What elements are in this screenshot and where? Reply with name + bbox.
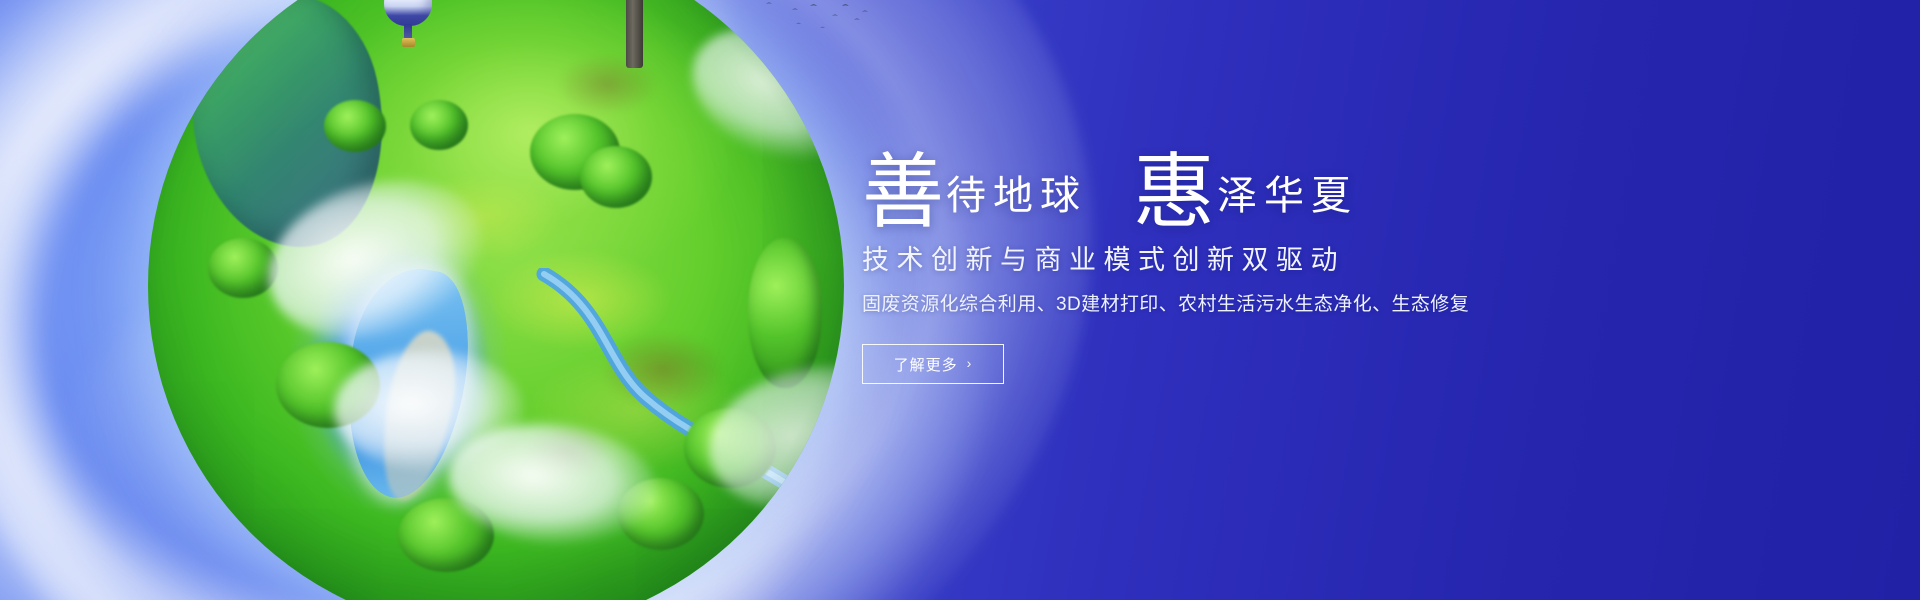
page-title: 善 待地球 惠 泽华夏: [862, 132, 1562, 224]
headline-rest-1: 待地球: [946, 176, 1087, 216]
hero-copy: 善 待地球 惠 泽华夏 技术创新与商业模式创新双驱动 固废资源化综合利用、3D建…: [862, 132, 1562, 384]
headline-lead-1: 善: [862, 155, 944, 230]
hero-description: 固废资源化综合利用、3D建材打印、农村生活污水生态净化、生态修复: [862, 292, 1562, 318]
globe-sphere: [148, 0, 844, 600]
headline-lead-2: 惠: [1133, 155, 1215, 230]
planet-illustration: [148, 0, 844, 600]
headline-rest-2: 泽华夏: [1217, 176, 1358, 216]
chevron-right-icon: ›: [967, 356, 973, 370]
hero-subtitle: 技术创新与商业模式创新双驱动: [862, 244, 1562, 276]
balloon-envelope: [384, 0, 432, 26]
hot-air-balloon-icon: [384, 0, 432, 52]
tree: [448, 0, 688, 66]
balloon-basket: [402, 38, 415, 47]
hero-banner: 善 待地球 惠 泽华夏 技术创新与商业模式创新双驱动 固废资源化综合利用、3D建…: [0, 0, 1920, 600]
globe-edge-shading: [148, 0, 844, 600]
tree-trunk: [626, 0, 643, 68]
learn-more-button[interactable]: 了解更多 ›: [862, 344, 1004, 384]
birds-flock-icon: [736, 0, 876, 34]
learn-more-label: 了解更多: [894, 354, 958, 375]
